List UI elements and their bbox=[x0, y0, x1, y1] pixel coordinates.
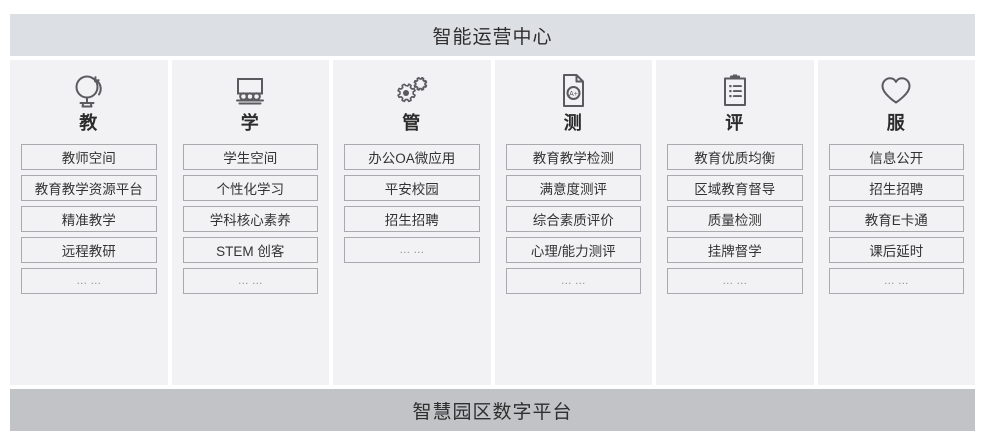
list-item-more[interactable]: …… bbox=[506, 268, 642, 294]
category-title-serve: 服 bbox=[829, 114, 965, 132]
item-list-manage: 办公OA微应用 平安校园 招生招聘 …… bbox=[344, 144, 480, 263]
list-item-more[interactable]: …… bbox=[21, 268, 157, 294]
list-item-more[interactable]: …… bbox=[183, 268, 319, 294]
list-item[interactable]: 挂牌督学 bbox=[667, 237, 803, 263]
list-item-more[interactable]: …… bbox=[829, 268, 965, 294]
list-item[interactable]: 教育E卡通 bbox=[829, 206, 965, 232]
list-item[interactable]: 质量检测 bbox=[667, 206, 803, 232]
list-item[interactable]: 教育教学资源平台 bbox=[21, 175, 157, 201]
category-title-learn: 学 bbox=[183, 114, 319, 132]
list-item[interactable]: 平安校园 bbox=[344, 175, 480, 201]
classroom-icon bbox=[183, 70, 319, 112]
category-title-evaluate: 评 bbox=[667, 114, 803, 132]
list-item[interactable]: 课后延时 bbox=[829, 237, 965, 263]
list-item[interactable]: 信息公开 bbox=[829, 144, 965, 170]
list-item[interactable]: 招生招聘 bbox=[344, 206, 480, 232]
list-item[interactable]: 满意度测评 bbox=[506, 175, 642, 201]
item-list-evaluate: 教育优质均衡 区域教育督导 质量检测 挂牌督学 …… bbox=[667, 144, 803, 294]
smart-operations-board: 智能运营中心 教 教师空间 教育教学资源平台 精准教学 bbox=[0, 0, 985, 443]
item-list-measure: 教育教学检测 满意度测评 综合素质评价 心理/能力测评 …… bbox=[506, 144, 642, 294]
category-column-teach[interactable]: 教 教师空间 教育教学资源平台 精准教学 远程教研 …… bbox=[10, 60, 168, 385]
list-item[interactable]: 教育教学检测 bbox=[506, 144, 642, 170]
gears-icon bbox=[344, 70, 480, 112]
category-title-manage: 管 bbox=[344, 114, 480, 132]
category-column-learn[interactable]: 学 学生空间 个性化学习 学科核心素养 STEM 创客 …… bbox=[172, 60, 330, 385]
list-item[interactable]: 区域教育督导 bbox=[667, 175, 803, 201]
list-item-more[interactable]: …… bbox=[344, 237, 480, 263]
board-footer-banner: 智慧园区数字平台 bbox=[10, 389, 975, 431]
list-item[interactable]: 心理/能力测评 bbox=[506, 237, 642, 263]
clipboard-checklist-icon bbox=[667, 70, 803, 112]
list-item[interactable]: 学科核心素养 bbox=[183, 206, 319, 232]
list-item[interactable]: 教育优质均衡 bbox=[667, 144, 803, 170]
category-title-teach: 教 bbox=[21, 114, 157, 132]
list-item[interactable]: 教师空间 bbox=[21, 144, 157, 170]
svg-text:A+: A+ bbox=[569, 91, 578, 98]
list-item[interactable]: 远程教研 bbox=[21, 237, 157, 263]
list-item[interactable]: 招生招聘 bbox=[829, 175, 965, 201]
item-list-teach: 教师空间 教育教学资源平台 精准教学 远程教研 …… bbox=[21, 144, 157, 294]
category-column-measure[interactable]: A+ 测 教育教学检测 满意度测评 综合素质评价 心理/能力测评 …… bbox=[495, 60, 653, 385]
item-list-serve: 信息公开 招生招聘 教育E卡通 课后延时 …… bbox=[829, 144, 965, 294]
board-title: 智能运营中心 bbox=[432, 22, 552, 49]
document-grade-icon: A+ bbox=[506, 70, 642, 112]
category-columns: 教 教师空间 教育教学资源平台 精准教学 远程教研 …… bbox=[10, 60, 975, 385]
list-item[interactable]: 学生空间 bbox=[183, 144, 319, 170]
list-item[interactable]: 个性化学习 bbox=[183, 175, 319, 201]
list-item[interactable]: 精准教学 bbox=[21, 206, 157, 232]
globe-icon bbox=[21, 70, 157, 112]
category-title-measure: 测 bbox=[506, 114, 642, 132]
list-item-more[interactable]: …… bbox=[667, 268, 803, 294]
category-column-serve[interactable]: 服 信息公开 招生招聘 教育E卡通 课后延时 …… bbox=[818, 60, 976, 385]
item-list-learn: 学生空间 个性化学习 学科核心素养 STEM 创客 …… bbox=[183, 144, 319, 294]
heart-icon bbox=[829, 70, 965, 112]
list-item[interactable]: 综合素质评价 bbox=[506, 206, 642, 232]
category-column-manage[interactable]: 管 办公OA微应用 平安校园 招生招聘 …… bbox=[333, 60, 491, 385]
list-item[interactable]: STEM 创客 bbox=[183, 237, 319, 263]
board-header-banner: 智能运营中心 bbox=[10, 14, 975, 56]
list-item[interactable]: 办公OA微应用 bbox=[344, 144, 480, 170]
footer-title: 智慧园区数字平台 bbox=[412, 397, 572, 424]
category-column-evaluate[interactable]: 评 教育优质均衡 区域教育督导 质量检测 挂牌督学 …… bbox=[656, 60, 814, 385]
